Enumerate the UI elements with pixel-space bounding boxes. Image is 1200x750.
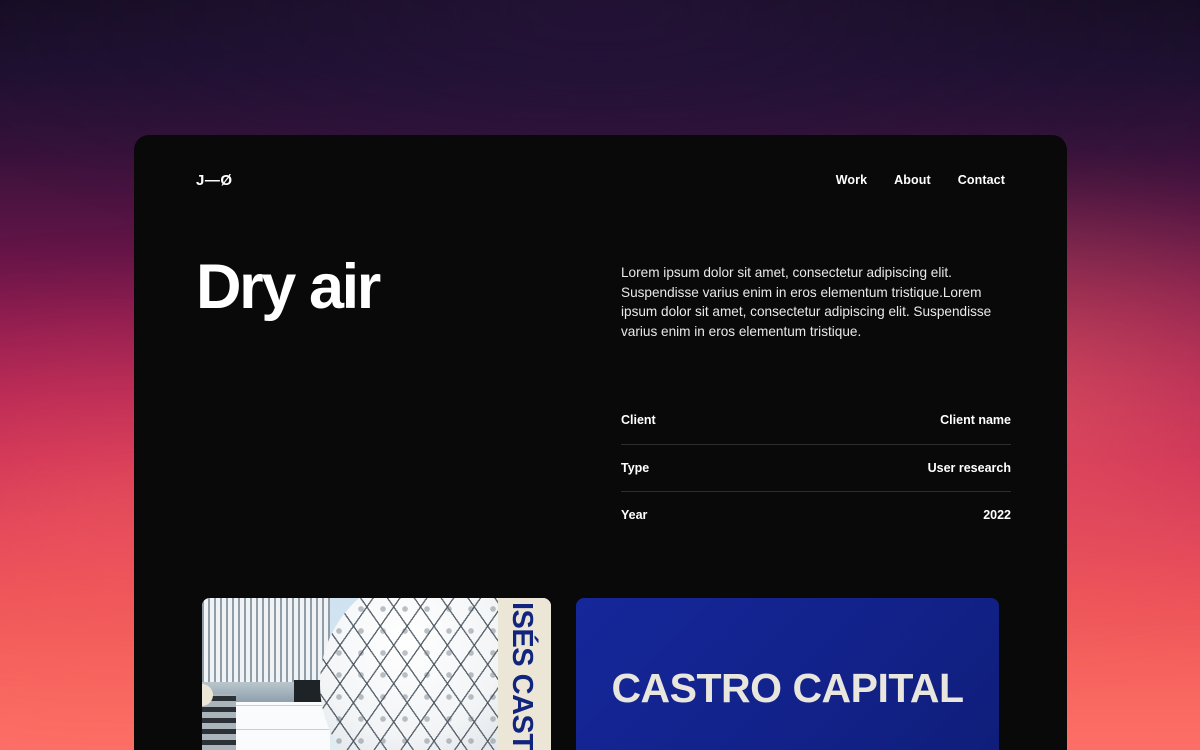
- meta-label: Client: [621, 413, 656, 427]
- meta-row-client: Client Client name: [621, 397, 1011, 444]
- gallery-item-ticket[interactable]: ISÉS CASTR: [202, 598, 551, 750]
- gallery-item-castro-capital[interactable]: CASTRO CAPITAL: [576, 598, 999, 750]
- nav-links: Work About Contact: [836, 173, 1005, 187]
- hero-section: Dry air Lorem ipsum dolor sit amet, cons…: [196, 255, 1006, 538]
- castro-capital-title: CASTRO CAPITAL: [611, 665, 963, 712]
- ticket-stub-text: ISÉS CASTR: [505, 602, 538, 750]
- meta-label: Type: [621, 461, 649, 475]
- desktop-wallpaper: J—Ø Work About Contact Dry air Lorem ips…: [0, 0, 1200, 750]
- website-card: J—Ø Work About Contact Dry air Lorem ips…: [134, 135, 1067, 750]
- meta-row-type: Type User research: [621, 444, 1011, 491]
- ticket-stub: ISÉS CASTR: [498, 598, 551, 750]
- hero-details: Lorem ipsum dolor sit amet, consectetur …: [621, 255, 1011, 538]
- meta-label: Year: [621, 508, 647, 522]
- nav-link-work[interactable]: Work: [836, 173, 867, 187]
- nav-link-about[interactable]: About: [894, 173, 931, 187]
- diagrid-dome: [320, 598, 498, 750]
- meta-row-year: Year 2022: [621, 491, 1011, 538]
- nav-link-contact[interactable]: Contact: [958, 173, 1005, 187]
- site-navigation: J—Ø Work About Contact: [134, 135, 1067, 225]
- dome-panel-dots: [320, 598, 498, 750]
- meta-value: Client name: [940, 413, 1011, 427]
- project-gallery: ISÉS CASTR CASTRO CAPITAL: [202, 598, 999, 750]
- project-description: Lorem ipsum dolor sit amet, consectetur …: [621, 263, 1011, 342]
- site-logo[interactable]: J—Ø: [196, 172, 233, 189]
- meta-value: User research: [928, 461, 1011, 475]
- meta-value: 2022: [983, 508, 1011, 522]
- architecture-photo: [202, 598, 498, 750]
- page-title: Dry air: [196, 255, 621, 319]
- project-meta-table: Client Client name Type User research Ye…: [621, 397, 1011, 538]
